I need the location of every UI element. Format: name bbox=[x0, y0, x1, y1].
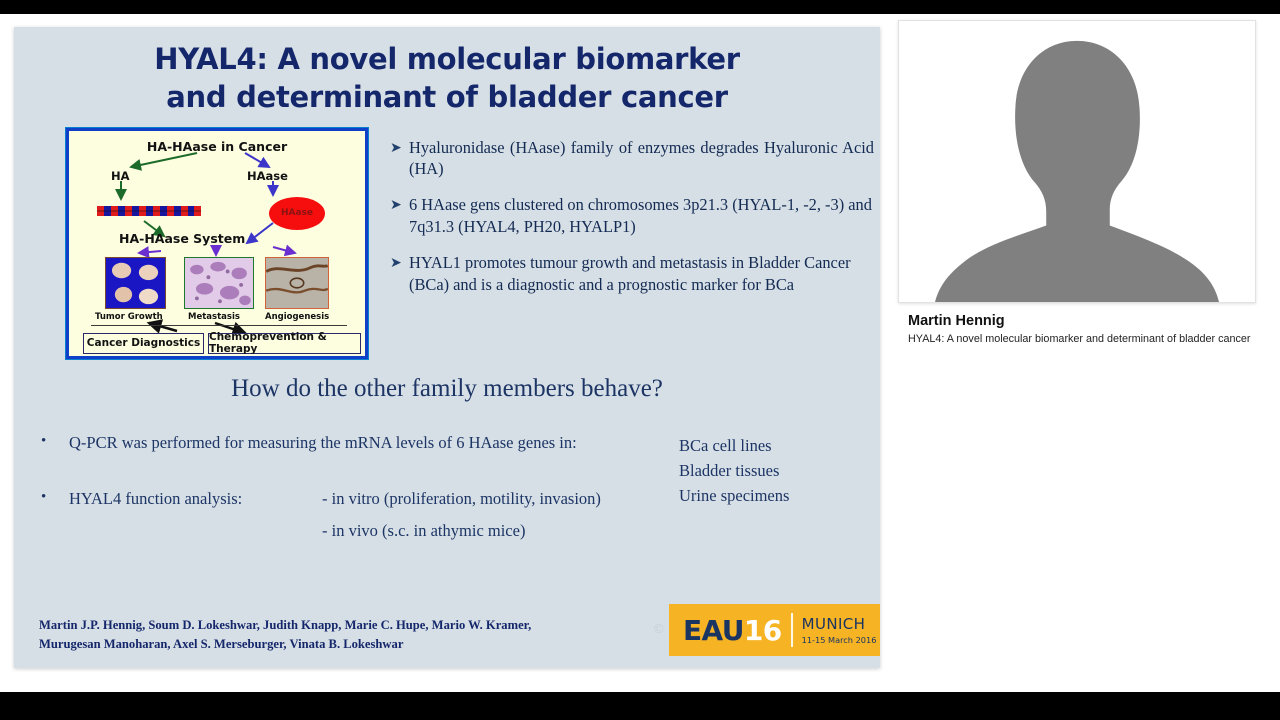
author-line: Martin J.P. Hennig, Soum D. Lokeshwar, J… bbox=[39, 616, 531, 635]
eau-logo-date: 11-15 March 2016 bbox=[802, 635, 877, 645]
specimen-column: BCa cell lines Bladder tissues Urine spe… bbox=[679, 433, 789, 508]
bullet-text: Hyaluronidase (HAase) family of enzymes … bbox=[409, 137, 874, 181]
copyright-watermark: © bbox=[654, 621, 664, 636]
slide-title: HYAL4: A novel molecular biomarker and d… bbox=[14, 27, 880, 117]
slide-question: How do the other family members behave? bbox=[14, 375, 880, 403]
haase-oval-icon: HAase bbox=[269, 197, 325, 230]
arrow-bullet-icon: ➤ bbox=[390, 252, 409, 273]
thumbnail-tumor-growth bbox=[105, 257, 166, 309]
speaker-name: Martin Hennig bbox=[898, 313, 1258, 329]
dot-bullet-icon: • bbox=[41, 489, 69, 509]
slide-title-line-2: and determinant of bladder cancer bbox=[14, 78, 880, 116]
thumbnail-caption-1: Tumor Growth bbox=[95, 312, 163, 322]
dot-bullet-icon: • bbox=[41, 433, 69, 453]
ha-polymer-chain-icon bbox=[97, 203, 201, 219]
thumbnail-angiogenesis bbox=[265, 257, 329, 309]
bullet-item: ➤ HYAL1 promotes tumour growth and metas… bbox=[390, 252, 874, 296]
slide-methods-block: • Q-PCR was performed for measuring the … bbox=[14, 433, 880, 541]
thumbnail-caption-3: Angiogenesis bbox=[265, 312, 329, 322]
thumbnail-metastasis bbox=[184, 257, 254, 309]
eau-logo-brand: EAU bbox=[683, 614, 744, 647]
bullet-item: ➤ Hyaluronidase (HAase) family of enzyme… bbox=[390, 137, 874, 181]
author-line: Murugesan Manoharan, Axel S. Merseburger… bbox=[39, 635, 531, 654]
eau-logo-divider bbox=[791, 613, 793, 647]
specimen-item: Bladder tissues bbox=[679, 458, 789, 483]
letterbox-top bbox=[0, 0, 1280, 14]
diagram-box-chemoprevention: Chemoprevention & Therapy bbox=[208, 333, 361, 354]
method-row-detail: - in vitro (proliferation, motility, inv… bbox=[322, 489, 601, 509]
slide-panel[interactable]: HYAL4: A novel molecular biomarker and d… bbox=[14, 27, 880, 668]
letterbox-bottom bbox=[0, 692, 1280, 720]
eau-logo-year: 16 bbox=[744, 614, 782, 647]
diagram-label-system: HA-HAase System bbox=[119, 231, 245, 246]
method-invivo-text: - in vivo (s.c. in athymic mice) bbox=[41, 521, 880, 541]
author-list: Martin J.P. Hennig, Soum D. Lokeshwar, J… bbox=[39, 616, 531, 654]
arrow-bullet-icon: ➤ bbox=[390, 194, 409, 215]
speaker-avatar-card bbox=[898, 20, 1256, 303]
diagram-wrapper: HA-HAase in Cancer bbox=[66, 128, 368, 359]
eau-logo-wordmark: EAU16 bbox=[683, 614, 782, 647]
diagram-label-haase: HAase bbox=[247, 169, 288, 183]
diagram-divider bbox=[91, 325, 347, 327]
eau-logo-details: MUNICH 11-15 March 2016 bbox=[802, 615, 877, 645]
haase-oval-label: HAase bbox=[281, 208, 313, 218]
slide-title-line-1: HYAL4: A novel molecular biomarker bbox=[14, 40, 880, 78]
bullet-item: ➤ 6 HAase gens clustered on chromosomes … bbox=[390, 194, 874, 238]
specimen-item: Urine specimens bbox=[679, 483, 789, 508]
bullet-text: 6 HAase gens clustered on chromosomes 3p… bbox=[409, 194, 874, 238]
diagram-box-cancer-diagnostics: Cancer Diagnostics bbox=[83, 333, 204, 354]
diagram-arrows bbox=[69, 131, 371, 362]
method-row-label: HYAL4 function analysis: bbox=[69, 489, 322, 509]
speaker-panel: Martin Hennig HYAL4: A novel molecular b… bbox=[898, 20, 1258, 345]
specimen-item: BCa cell lines bbox=[679, 433, 789, 458]
eau-logo-city: MUNICH bbox=[802, 615, 877, 633]
slide-mid-row: HA-HAase in Cancer bbox=[14, 128, 880, 359]
slide-footer: Martin J.P. Hennig, Soum D. Lokeshwar, J… bbox=[14, 588, 880, 668]
viewer-root: HYAL4: A novel molecular biomarker and d… bbox=[0, 0, 1280, 720]
arrow-bullet-icon: ➤ bbox=[390, 137, 409, 158]
bullet-text: HYAL1 promotes tumour growth and metasta… bbox=[409, 252, 874, 296]
eau16-logo: EAU16 MUNICH 11-15 March 2016 bbox=[669, 604, 880, 656]
method-row-text: Q-PCR was performed for measuring the mR… bbox=[69, 433, 577, 453]
speaker-presentation-title: HYAL4: A novel molecular biomarker and d… bbox=[898, 333, 1258, 345]
slide-bullet-list: ➤ Hyaluronidase (HAase) family of enzyme… bbox=[368, 128, 874, 359]
diagram-label-ha: HA bbox=[111, 169, 130, 183]
ha-haase-diagram: HA-HAase in Cancer bbox=[66, 128, 368, 359]
thumbnail-caption-2: Metastasis bbox=[188, 312, 240, 322]
person-silhouette-icon bbox=[899, 21, 1255, 302]
